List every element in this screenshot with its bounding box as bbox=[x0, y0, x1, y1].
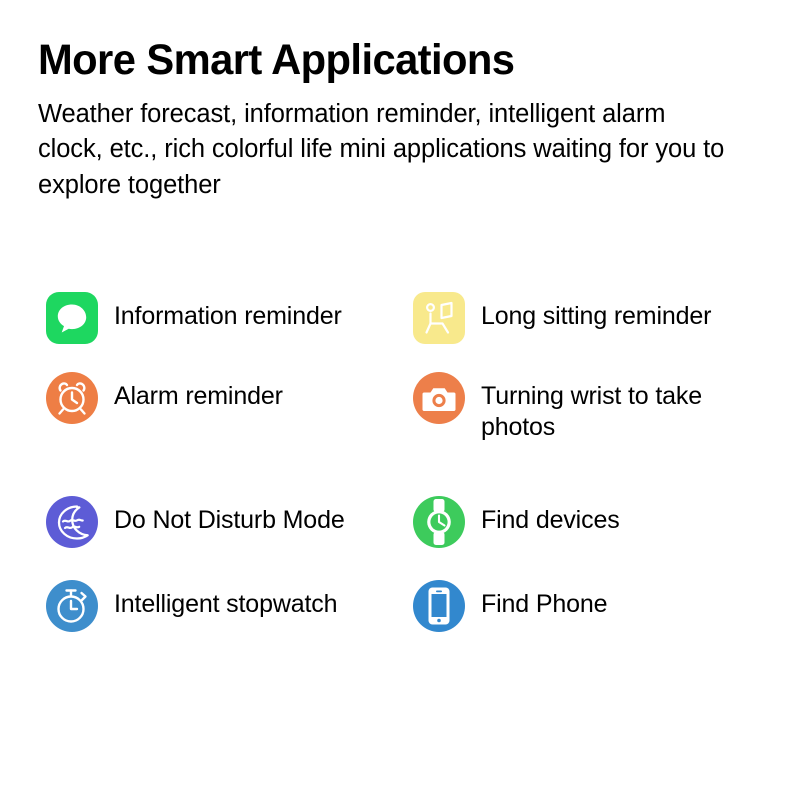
feature-list: Information reminder Long sitting remind… bbox=[38, 292, 778, 664]
smartphone-icon bbox=[413, 580, 465, 632]
feature-label: Find Phone bbox=[481, 580, 607, 620]
smart-applications-page: More Smart Applications Weather forecast… bbox=[0, 0, 800, 800]
feature-label: Turning wrist to take photos bbox=[481, 372, 778, 442]
feature-item-long-sitting-reminder[interactable]: Long sitting reminder bbox=[413, 292, 778, 360]
feature-label: Long sitting reminder bbox=[481, 292, 711, 332]
feature-row: Alarm reminder Turning wrist to take pho… bbox=[38, 372, 778, 484]
feature-row: Do Not Disturb Mode Find devices bbox=[38, 496, 778, 568]
alarm-clock-icon bbox=[46, 372, 98, 424]
feature-label: Information reminder bbox=[114, 292, 342, 332]
message-bubble-icon bbox=[46, 292, 98, 344]
feature-item-alarm-reminder[interactable]: Alarm reminder bbox=[38, 372, 413, 484]
feature-label: Do Not Disturb Mode bbox=[114, 496, 345, 536]
camera-icon bbox=[413, 372, 465, 424]
smartwatch-icon bbox=[413, 496, 465, 548]
page-description: Weather forecast, information reminder, … bbox=[38, 97, 728, 203]
stopwatch-icon bbox=[46, 580, 98, 632]
feature-row: Information reminder Long sitting remind… bbox=[38, 292, 778, 360]
feature-item-turning-wrist-to-take-photos[interactable]: Turning wrist to take photos bbox=[413, 372, 778, 484]
feature-label: Find devices bbox=[481, 496, 620, 536]
feature-item-intelligent-stopwatch[interactable]: Intelligent stopwatch bbox=[38, 580, 413, 652]
feature-label: Alarm reminder bbox=[114, 372, 283, 412]
moon-cloud-icon bbox=[46, 496, 98, 548]
sitting-person-icon bbox=[413, 292, 465, 344]
feature-item-find-phone[interactable]: Find Phone bbox=[413, 580, 778, 652]
page-title: More Smart Applications bbox=[38, 38, 744, 83]
feature-label: Intelligent stopwatch bbox=[114, 580, 337, 620]
feature-item-find-devices[interactable]: Find devices bbox=[413, 496, 778, 568]
feature-item-information-reminder[interactable]: Information reminder bbox=[38, 292, 413, 360]
feature-item-do-not-disturb-mode[interactable]: Do Not Disturb Mode bbox=[38, 496, 413, 568]
feature-row: Intelligent stopwatch Find Phone bbox=[38, 580, 778, 652]
